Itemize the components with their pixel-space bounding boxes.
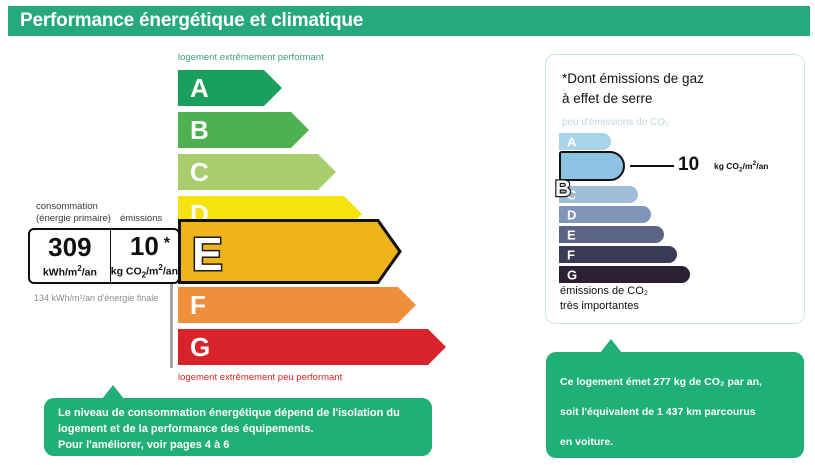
ghg-band-b-letter: B bbox=[555, 178, 571, 200]
page-title: Performance énergétique et climatique bbox=[20, 10, 363, 32]
energy-band-f[interactable]: F bbox=[178, 287, 416, 323]
energy-band-a[interactable]: A bbox=[178, 70, 282, 106]
callout-ghg-text: Ce logement émet 277 kg de CO₂ par an, s… bbox=[560, 360, 790, 465]
callout-energy: Le niveau de consommation énergétique dé… bbox=[44, 398, 432, 456]
ghg-value-unit: kg CO2/m2/an bbox=[714, 161, 768, 174]
ghg-leader-line bbox=[630, 165, 674, 167]
ghg-band-g[interactable]: G bbox=[559, 266, 690, 283]
label-emissions: émissions bbox=[120, 213, 162, 225]
energy-band-e-letter: E bbox=[192, 231, 223, 277]
emissions-unit: kg CO2/m2/an bbox=[111, 264, 178, 280]
energy-band-b-letter: B bbox=[190, 117, 209, 143]
ghg-band-f[interactable]: F bbox=[559, 246, 677, 263]
ghg-value-number: 10 bbox=[678, 155, 699, 174]
emissions-cell: 10 kg CO2/m2/an * bbox=[111, 230, 178, 282]
header-bar: Performance énergétique et climatique bbox=[8, 6, 810, 36]
label-consommation: consommation (énergie primaire) bbox=[36, 201, 111, 226]
ghg-band-f-letter: F bbox=[567, 248, 575, 261]
ghg-panel-title: *Dont émissions de gaz à effet de serre bbox=[562, 69, 704, 108]
energy-band-c[interactable]: C bbox=[178, 154, 336, 190]
emissions-unit-mid: /m bbox=[146, 265, 158, 277]
scale-caption-bottom: logement extrêmement peu performant bbox=[178, 372, 342, 383]
ghg-unit-pre: kg CO bbox=[714, 161, 739, 171]
dpe-energy-label: Performance énergétique et climatique lo… bbox=[0, 0, 815, 465]
ghg-band-e-letter: E bbox=[567, 228, 576, 241]
energy-band-a-letter: A bbox=[190, 75, 209, 101]
label-final-energy: 134 kWh/m²/an d'énergie finale bbox=[34, 292, 158, 304]
callout-energy-tail bbox=[102, 385, 124, 399]
ghg-footer-caption: émissions de CO₂ très importantes bbox=[560, 284, 648, 314]
energy-band-b[interactable]: B bbox=[178, 112, 309, 148]
energy-band-g-shape bbox=[178, 329, 446, 365]
ghg-band-a-letter: A bbox=[567, 135, 576, 148]
ghg-band-e[interactable]: E bbox=[559, 226, 664, 243]
callout-ghg-line-2: soit l'équivalent de 1 437 km parcourus bbox=[560, 406, 756, 418]
consumption-value-box: 309 kWh/m2/an 10 kg CO2/m2/an * bbox=[28, 228, 180, 284]
ghg-band-a[interactable]: A bbox=[559, 133, 611, 150]
energy-band-f-shape bbox=[178, 287, 416, 323]
fg-divider bbox=[170, 284, 173, 368]
energy-band-f-letter: F bbox=[190, 292, 206, 318]
consumption-cell: 309 kWh/m2/an bbox=[30, 230, 111, 282]
consumption-unit-main: kWh/m bbox=[43, 267, 77, 279]
emissions-unit-pre: kg CO bbox=[111, 265, 142, 277]
scale-caption-top: logement extrêmement performant bbox=[178, 52, 324, 63]
energy-band-g-letter: G bbox=[190, 334, 210, 360]
energy-band-g[interactable]: G bbox=[178, 329, 446, 365]
callout-ghg-line-1: Ce logement émet 277 kg de CO₂ par an, bbox=[560, 376, 762, 388]
energy-band-c-letter: C bbox=[190, 159, 209, 185]
ghg-unit-tail: /an bbox=[756, 161, 768, 171]
ghg-band-g-letter: G bbox=[567, 268, 577, 281]
ghg-band-d-letter: D bbox=[567, 208, 576, 221]
callout-ghg: Ce logement émet 277 kg de CO₂ par an, s… bbox=[546, 352, 804, 458]
emissions-footnote-star: * bbox=[164, 236, 170, 252]
consumption-unit: kWh/m2/an bbox=[43, 265, 97, 278]
callout-energy-text: Le niveau de consommation énergétique dé… bbox=[58, 406, 418, 454]
consumption-number: 309 bbox=[48, 234, 91, 260]
emissions-number: 10 bbox=[130, 233, 159, 259]
callout-ghg-tail bbox=[600, 339, 622, 353]
ghg-unit-mid: /m bbox=[743, 161, 753, 171]
ghg-subcaption: peu d'émissions de CO₂ bbox=[562, 117, 669, 128]
energy-band-e-current[interactable]: E bbox=[178, 219, 402, 289]
consumption-unit-tail: /an bbox=[82, 267, 97, 279]
ghg-panel: *Dont émissions de gaz à effet de serre … bbox=[545, 54, 805, 324]
ghg-band-d[interactable]: D bbox=[559, 206, 651, 223]
callout-ghg-line-3: en voiture. bbox=[560, 436, 613, 448]
emissions-unit-tail: /an bbox=[163, 265, 178, 277]
